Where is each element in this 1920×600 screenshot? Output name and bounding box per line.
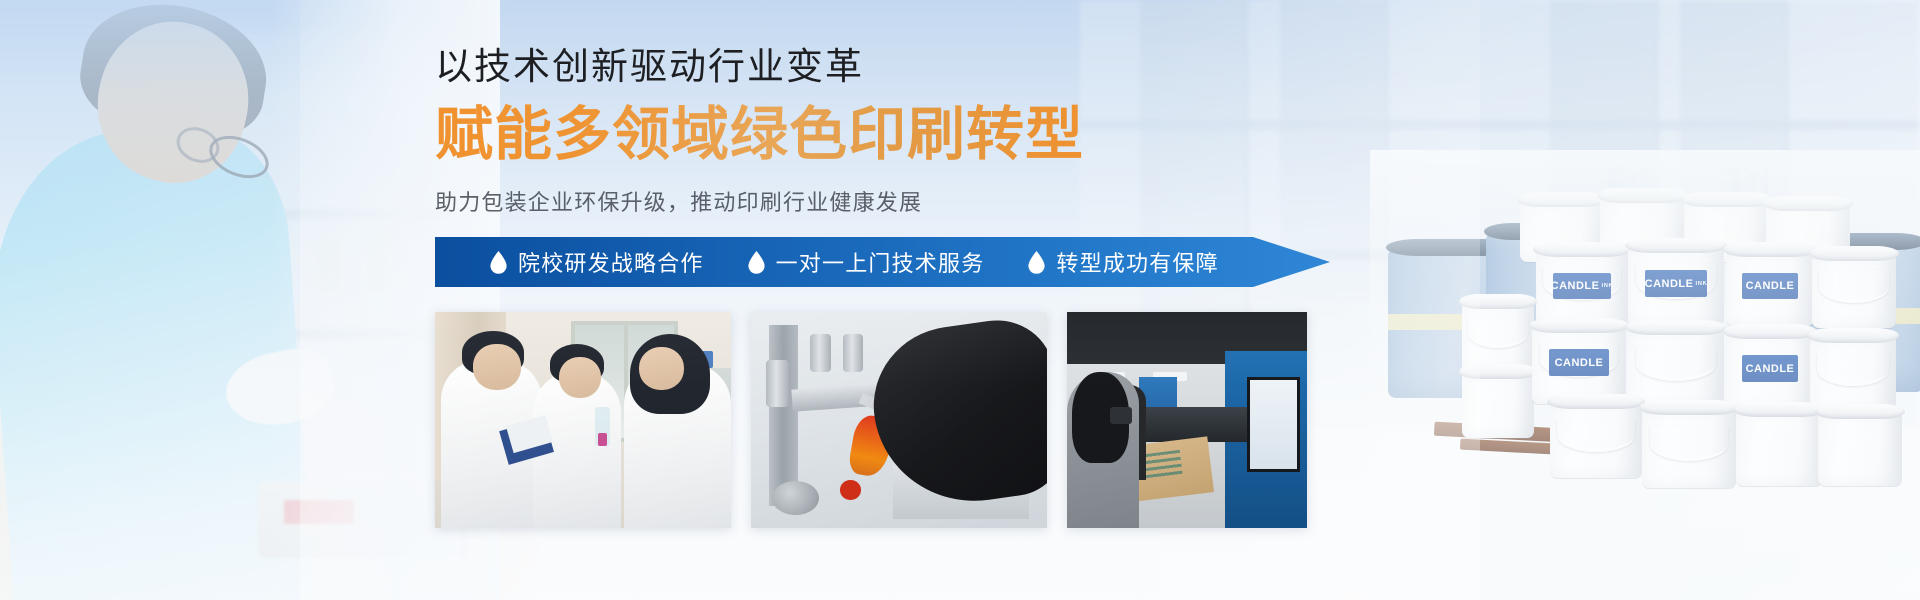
water-drop-icon — [1028, 251, 1045, 274]
hero-subtitle: 助力包装企业环保升级，推动印刷行业健康发展 — [435, 188, 922, 219]
hero-banner: 利 利 CANDLE INK — [0, 0, 1920, 600]
ink-bucket — [1628, 328, 1724, 408]
background-ink-buckets: CANDLE INK CANDLE INK CANDLE — [1400, 180, 1920, 600]
photo-printing-press-operation[interactable] — [1067, 312, 1307, 528]
bucket-rim — [1533, 242, 1631, 257]
bucket-rim — [1723, 242, 1817, 257]
ink-bucket — [1462, 302, 1534, 372]
ink-bucket: CANDLE — [1532, 326, 1626, 404]
bucket-rim — [1625, 238, 1727, 253]
bucket-brand-text: CANDLE — [1746, 280, 1795, 292]
feature-label-1: 院校研发战略合作 — [518, 246, 704, 278]
feature-item-2: 一对一上门技术服务 — [748, 246, 985, 278]
bucket-label: CANDLE INK — [1645, 270, 1706, 297]
ink-bucket: CANDLE — [1726, 250, 1814, 326]
hero-content: 以技术创新驱动行业变革 赋能多领域绿色印刷转型 助力包装企业环保升级，推动印刷行… — [435, 0, 1435, 600]
press-touchscreen — [1247, 377, 1300, 472]
ink-bucket: CANDLE — [1726, 332, 1814, 410]
water-drop-icon — [748, 251, 765, 274]
background-lab-technician-scene — [0, 0, 460, 600]
person-face — [473, 344, 520, 389]
bucket-label: CANDLE INK — [1553, 273, 1612, 299]
bucket-brand-text: CANDLE — [1746, 363, 1795, 375]
ink-bucket — [1462, 372, 1534, 438]
bucket-brand-text: CANDLE — [1555, 357, 1604, 369]
hero-headline: 赋能多领域绿色印刷转型 — [435, 100, 1084, 171]
ink-bucket — [1736, 410, 1822, 486]
water-drop-icon — [490, 251, 507, 274]
ink-bucket — [1812, 254, 1896, 328]
ink-bucket — [1818, 412, 1902, 486]
feature-label-3: 转型成功有保障 — [1056, 246, 1218, 278]
bucket-brand-suffix: INK — [1601, 283, 1611, 289]
feature-item-3: 转型成功有保障 — [1028, 246, 1218, 278]
bucket-label: CANDLE — [1742, 273, 1798, 299]
ink-bucket — [1642, 408, 1736, 488]
feature-item-1: 院校研发战略合作 — [490, 246, 704, 278]
ink-bucket: CANDLE INK — [1628, 246, 1724, 326]
ink-bucket: CANDLE INK — [1536, 250, 1628, 326]
person-face — [559, 357, 600, 398]
bucket-rim — [1809, 246, 1899, 261]
ink-bucket — [1810, 336, 1896, 412]
feature-label-2: 一对一上门技术服务 — [776, 246, 985, 278]
bucket-brand-text: CANDLE — [1645, 278, 1693, 290]
person-face — [639, 347, 683, 390]
photo-lab-team-discussion[interactable] — [435, 312, 731, 528]
photo-strip — [435, 312, 1285, 528]
photo-ink-application-machine[interactable] — [751, 312, 1047, 528]
bucket-label: CANDLE — [1742, 355, 1798, 382]
bucket-handle — [1819, 270, 1890, 303]
bucket-label: CANDLE — [1549, 349, 1609, 376]
feature-banner: 院校研发战略合作 一对一上门技术服务 转型成功有保障 — [435, 237, 1330, 287]
bucket-brand-suffix: INK — [1695, 281, 1706, 287]
bucket-brand-text: CANDLE — [1553, 280, 1600, 292]
hero-eyebrow: 以技术创新驱动行业变革 — [435, 44, 864, 89]
ink-bucket — [1550, 402, 1642, 478]
